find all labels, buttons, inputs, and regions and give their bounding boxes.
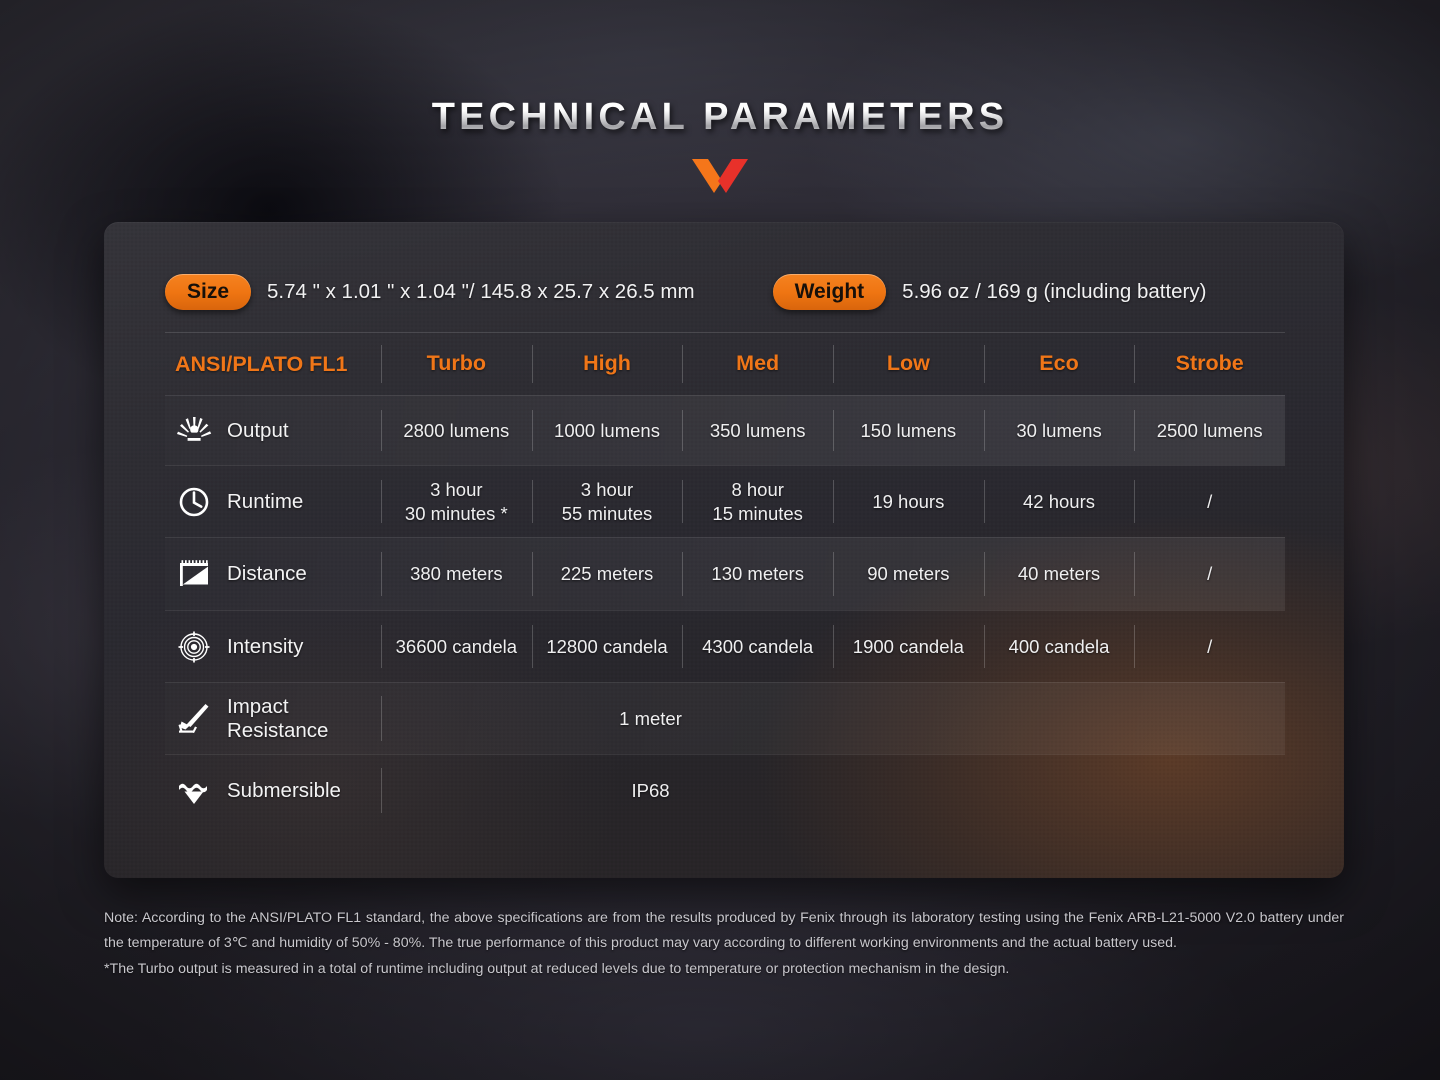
cell-runtime-eco: 42 hours [984, 466, 1135, 537]
weight-value: 5.96 oz / 169 g (including battery) [902, 280, 1206, 304]
cell-intensity-low: 1900 candela [833, 611, 984, 682]
specs-card: Size 5.74 " x 1.01 " x 1.04 "/ 145.8 x 2… [104, 222, 1344, 878]
row-label-text: Distance [227, 562, 307, 586]
table-row-runtime: Runtime 3 hour30 minutes * 3 hour55 minu… [165, 465, 1285, 537]
row-label-distance: Distance [165, 538, 381, 610]
beam-distance-ruler-icon [173, 554, 215, 594]
cell-runtime-med: 8 hour15 minutes [682, 466, 833, 537]
cell-intensity-eco: 400 candela [984, 611, 1135, 682]
clock-icon [173, 482, 215, 522]
specs-table: ANSI/PLATO FL1 Turbo High Med Low Eco St… [165, 332, 1285, 826]
row-label-text: Output [227, 419, 289, 443]
table-row-distance: Distance 380 meters 225 meters 130 meter… [165, 537, 1285, 610]
cell-distance-low: 90 meters [833, 538, 984, 610]
footnote-main: Note: According to the ANSI/PLATO FL1 st… [104, 906, 1344, 956]
weight-badge: Weight [773, 274, 887, 310]
cell-distance-high: 225 meters [532, 538, 683, 610]
footnote-asterisk: *The Turbo output is measured in a total… [104, 957, 1344, 982]
impact-drop-icon [173, 699, 215, 739]
page-title: TECHNICAL PARAMETERS [432, 96, 1009, 139]
cell-distance-strobe: / [1134, 538, 1285, 610]
brightness-sunburst-icon [173, 411, 215, 451]
cell-runtime-low: 19 hours [833, 466, 984, 537]
footnote-block: Note: According to the ANSI/PLATO FL1 st… [104, 906, 1344, 982]
cell-distance-turbo: 380 meters [381, 538, 532, 610]
cell-runtime-high: 3 hour55 minutes [532, 466, 683, 537]
header-cell-high: High [532, 333, 683, 395]
cell-output-med: 350 lumens [682, 396, 833, 465]
table-row-intensity: Intensity 36600 candela 12800 candela 43… [165, 610, 1285, 682]
header-cell-strobe: Strobe [1134, 333, 1285, 395]
water-submersible-icon [173, 771, 215, 811]
intensity-target-icon [173, 627, 215, 667]
row-label-intensity: Intensity [165, 611, 381, 682]
heading-section: TECHNICAL PARAMETERS [0, 96, 1440, 195]
row-label-output: Output [165, 396, 381, 465]
table-header-row: ANSI/PLATO FL1 Turbo High Med Low Eco St… [165, 333, 1285, 395]
header-cell-standard: ANSI/PLATO FL1 [165, 333, 381, 395]
chevron-down-icon [692, 159, 748, 193]
table-row-submersible: Submersible IP68 [165, 754, 1285, 826]
cell-intensity-med: 4300 candela [682, 611, 833, 682]
cell-output-eco: 30 lumens [984, 396, 1135, 465]
cell-output-turbo: 2800 lumens [381, 396, 532, 465]
row-label-text: Impact Resistance [227, 695, 381, 743]
header-cell-turbo: Turbo [381, 333, 532, 395]
header-cell-low: Low [833, 333, 984, 395]
chevron-divider [0, 159, 1440, 195]
header-label-ansi: ANSI/PLATO FL1 [175, 352, 347, 377]
header-cell-eco: Eco [984, 333, 1135, 395]
cell-output-strobe: 2500 lumens [1134, 396, 1285, 465]
row-label-runtime: Runtime [165, 466, 381, 537]
row-label-text: Intensity [227, 635, 303, 659]
cell-intensity-high: 12800 candela [532, 611, 683, 682]
cell-output-low: 150 lumens [833, 396, 984, 465]
cell-runtime-turbo: 3 hour30 minutes * [381, 466, 532, 537]
cell-distance-med: 130 meters [682, 538, 833, 610]
header-cell-med: Med [682, 333, 833, 395]
cell-intensity-strobe: / [1134, 611, 1285, 682]
size-badge: Size [165, 274, 251, 310]
row-label-submersible: Submersible [165, 755, 381, 826]
cell-distance-eco: 40 meters [984, 538, 1135, 610]
row-label-text: Runtime [227, 490, 303, 514]
row-label-text: Submersible [227, 779, 341, 803]
table-row-impact-resistance: Impact Resistance 1 meter [165, 682, 1285, 754]
weight-group: Weight 5.96 oz / 169 g (including batter… [773, 274, 1207, 310]
cell-submersible-value: IP68 [381, 755, 1285, 826]
cell-impact-resistance-value: 1 meter [381, 683, 1285, 754]
cell-output-high: 1000 lumens [532, 396, 683, 465]
summary-row: Size 5.74 " x 1.01 " x 1.04 "/ 145.8 x 2… [165, 264, 1285, 320]
row-label-impact-resistance: Impact Resistance [165, 683, 381, 754]
table-row-output: Output 2800 lumens 1000 lumens 350 lumen… [165, 395, 1285, 465]
cell-runtime-strobe: / [1134, 466, 1285, 537]
cell-intensity-turbo: 36600 candela [381, 611, 532, 682]
size-value: 5.74 " x 1.01 " x 1.04 "/ 145.8 x 25.7 x… [267, 280, 695, 304]
